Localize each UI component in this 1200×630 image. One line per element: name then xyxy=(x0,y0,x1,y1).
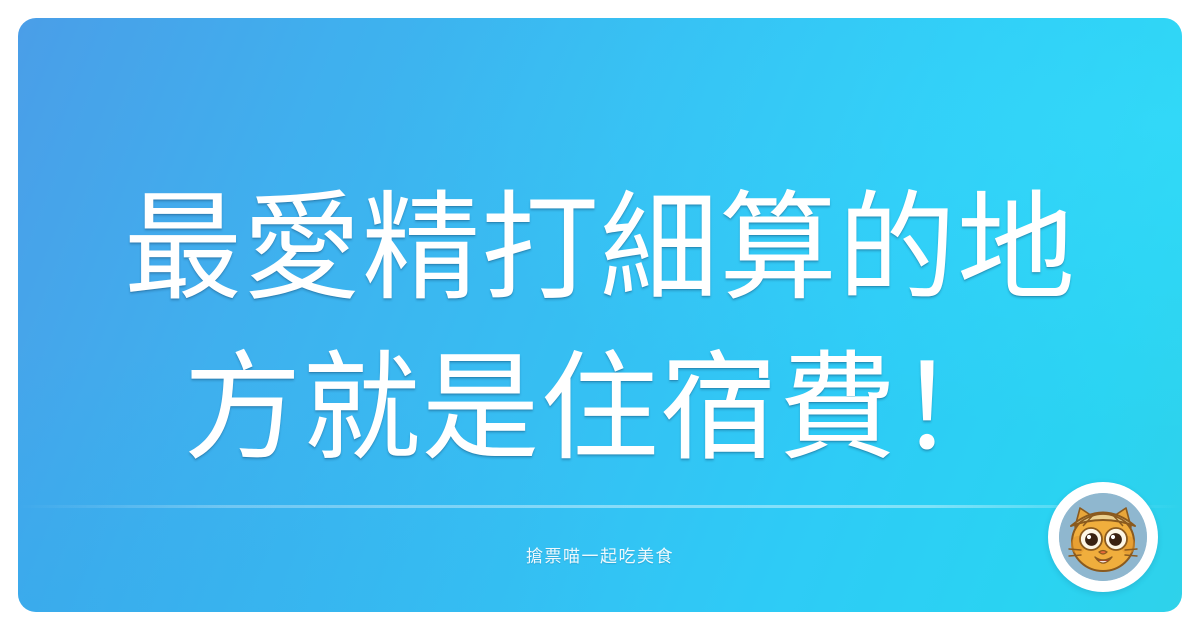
cat-face-avatar-icon xyxy=(1059,493,1147,581)
headline-line-2: 方就是住宿費！ xyxy=(18,328,1182,488)
poster-canvas: 最愛精打細算的地 方就是住宿費！ 搶票喵一起吃美食 xyxy=(0,0,1200,630)
gradient-card: 最愛精打細算的地 方就是住宿費！ 搶票喵一起吃美食 xyxy=(18,18,1182,612)
avatar[interactable] xyxy=(1048,482,1158,592)
footer-divider xyxy=(18,505,1182,508)
headline-line-1: 最愛精打細算的地 xyxy=(18,168,1182,328)
footer-caption: 搶票喵一起吃美食 xyxy=(18,542,1182,567)
headline: 最愛精打細算的地 方就是住宿費！ xyxy=(18,168,1182,489)
